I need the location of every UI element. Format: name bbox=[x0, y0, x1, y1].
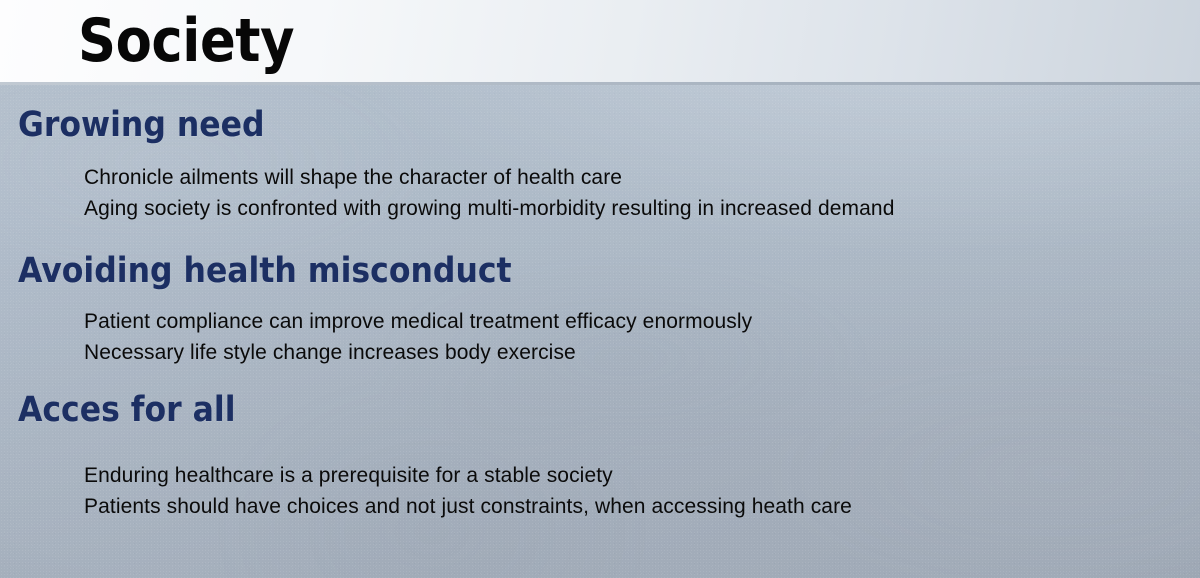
section-heading: Growing need bbox=[0, 103, 1080, 147]
section-heading: Avoiding health misconduct bbox=[0, 249, 1080, 293]
section-bullet-list: Patient compliance can improve medical t… bbox=[0, 306, 1200, 368]
content-section-acces-for-all: Acces for all Enduring healthcare is a p… bbox=[0, 388, 1200, 522]
slide-header-band: Society bbox=[0, 0, 1200, 85]
section-bullet-list: Chronicle ailments will shape the charac… bbox=[0, 162, 1200, 224]
slide-content: Growing need Chronicle ailments will sha… bbox=[0, 85, 1200, 578]
section-bullet-list: Enduring healthcare is a prerequisite fo… bbox=[0, 460, 1200, 522]
bullet-item: Enduring healthcare is a prerequisite fo… bbox=[84, 460, 1200, 491]
slide-title: Society bbox=[78, 4, 294, 78]
section-heading: Acces for all bbox=[0, 388, 1080, 432]
bullet-item: Necessary life style change increases bo… bbox=[84, 337, 1200, 368]
presentation-slide: Society Growing need Chronicle ailments … bbox=[0, 0, 1200, 578]
content-section-avoiding-health-misconduct: Avoiding health misconduct Patient compl… bbox=[0, 249, 1200, 368]
bullet-item: Patients should have choices and not jus… bbox=[84, 491, 1200, 522]
bullet-item: Chronicle ailments will shape the charac… bbox=[84, 162, 1200, 193]
content-section-growing-need: Growing need Chronicle ailments will sha… bbox=[0, 103, 1200, 224]
bullet-item: Aging society is confronted with growing… bbox=[84, 193, 1200, 224]
bullet-item: Patient compliance can improve medical t… bbox=[84, 306, 1200, 337]
